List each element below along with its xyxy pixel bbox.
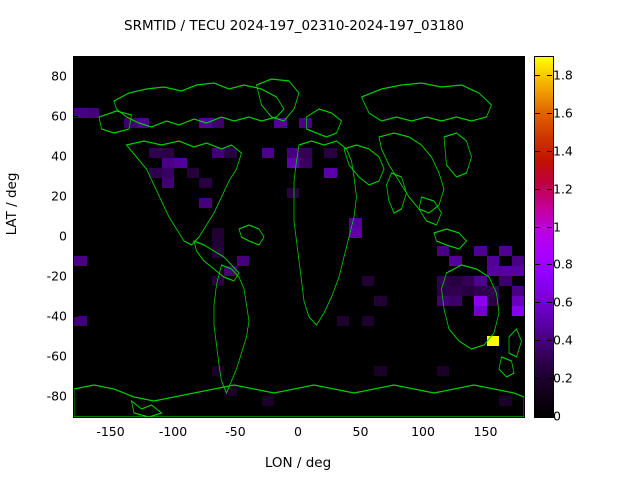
heatmap-cell	[287, 188, 300, 198]
heatmap-cell	[199, 178, 212, 188]
heatmap-cell	[212, 118, 225, 128]
plot-area[interactable]	[73, 56, 525, 418]
heatmap-cell	[512, 286, 525, 296]
heatmap-cell	[437, 276, 450, 286]
heatmap-cell	[487, 266, 500, 276]
heatmap-cell	[299, 148, 312, 158]
heatmap-cell	[274, 118, 287, 128]
heatmap-cell	[437, 296, 450, 306]
colorbar-tick-label: 0.4	[553, 333, 573, 348]
heatmap-cells	[74, 57, 524, 417]
colorbar-tick-label: 1.8	[553, 67, 573, 82]
heatmap-cell	[237, 256, 250, 266]
heatmap-cell	[137, 118, 150, 128]
heatmap-cell	[224, 266, 237, 276]
heatmap-cell	[349, 228, 362, 238]
figure-title: SRMTID / TECU 2024-197_02310-2024-197_03…	[0, 18, 588, 34]
colorbar-tick-label: 1.2	[553, 181, 573, 196]
heatmap-cell	[362, 276, 375, 286]
y-axis-label: LAT / deg	[4, 156, 20, 252]
heatmap-cell	[287, 158, 300, 168]
heatmap-cell	[149, 148, 162, 158]
x-tick-label: 100	[411, 424, 435, 439]
heatmap-cell	[74, 316, 87, 326]
colorbar-tick-label: 0.2	[553, 371, 573, 386]
x-tick-label: 50	[353, 424, 369, 439]
heatmap-cell	[299, 158, 312, 168]
heatmap-cell	[374, 366, 387, 376]
x-tick-label: 150	[474, 424, 498, 439]
colorbar-tick-mark	[547, 302, 552, 303]
y-tick-mark	[73, 316, 78, 317]
heatmap-cell	[212, 248, 225, 258]
colorbar-tick-mark	[547, 113, 552, 114]
heatmap-cell	[462, 276, 475, 286]
heatmap-cell	[124, 118, 137, 128]
heatmap-cell	[337, 316, 350, 326]
heatmap-cell	[262, 396, 275, 406]
colorbar-tick-label: 0.6	[553, 295, 573, 310]
colorbar-tick-label: 1	[553, 219, 561, 234]
colorbar-tick-mark	[547, 264, 552, 265]
y-tick-label: 40	[25, 149, 67, 164]
heatmap-cell	[499, 266, 512, 276]
y-tick-mark	[73, 76, 78, 77]
colorbar-tick-mark	[535, 189, 540, 190]
y-tick-label: -60	[25, 349, 67, 364]
colorbar-tick-mark	[535, 416, 540, 417]
heatmap-cell	[74, 256, 87, 266]
tec-map-figure: SRMTID / TECU 2024-197_02310-2024-197_03…	[0, 0, 640, 480]
heatmap-cell	[212, 238, 225, 248]
colorbar-tick-mark	[535, 302, 540, 303]
heatmap-cell	[324, 148, 337, 158]
colorbar-tick-label: 1.4	[553, 143, 573, 158]
x-tick-mark	[486, 411, 487, 416]
y-tick-label: -80	[25, 389, 67, 404]
y-tick-mark	[73, 396, 78, 397]
heatmap-cell	[212, 228, 225, 238]
y-tick-label: 80	[25, 69, 67, 84]
heatmap-cell	[512, 256, 525, 266]
heatmap-cell	[474, 286, 487, 296]
heatmap-cell	[349, 218, 362, 228]
heatmap-cell	[512, 266, 525, 276]
heatmap-cell	[324, 168, 337, 178]
colorbar-tick-label: 0.8	[553, 257, 573, 272]
y-tick-label: -40	[25, 309, 67, 324]
heatmap-cell	[299, 118, 312, 128]
y-tick-mark	[73, 156, 78, 157]
heatmap-cell	[212, 276, 225, 286]
x-tick-label: -150	[96, 424, 124, 439]
heatmap-cell	[162, 148, 175, 158]
x-tick-label: -100	[159, 424, 187, 439]
heatmap-cell	[449, 296, 462, 306]
heatmap-cell	[474, 306, 487, 316]
colorbar-tick-mark	[535, 75, 540, 76]
heatmap-cell	[262, 148, 275, 158]
heatmap-cell	[449, 276, 462, 286]
colorbar-tick-label: 1.6	[553, 105, 573, 120]
colorbar-tick-mark	[535, 151, 540, 152]
heatmap-cell	[449, 256, 462, 266]
heatmap-cell	[474, 296, 487, 306]
heatmap-cell	[512, 306, 525, 316]
heatmap-cell	[162, 168, 175, 178]
heatmap-cell	[224, 148, 237, 158]
colorbar-tick-mark	[547, 75, 552, 76]
x-tick-mark	[361, 411, 362, 416]
x-tick-label: -50	[225, 424, 245, 439]
heatmap-cell	[462, 286, 475, 296]
colorbar-tick-mark	[535, 227, 540, 228]
y-tick-label: 0	[25, 229, 67, 244]
x-tick-label: 0	[294, 424, 302, 439]
heatmap-cell	[287, 148, 300, 158]
colorbar-tick-mark	[535, 378, 540, 379]
heatmap-cell	[374, 296, 387, 306]
heatmap-cell	[499, 396, 512, 406]
y-tick-label: -20	[25, 269, 67, 284]
heatmap-cell	[212, 148, 225, 158]
x-tick-mark	[111, 411, 112, 416]
x-tick-mark	[236, 411, 237, 416]
heatmap-cell	[362, 316, 375, 326]
colorbar-tick-mark	[547, 227, 552, 228]
y-tick-label: 60	[25, 109, 67, 124]
heatmap-cell	[487, 336, 500, 346]
colorbar-tick-mark	[547, 189, 552, 190]
heatmap-cell	[512, 296, 525, 306]
heatmap-cell	[162, 158, 175, 168]
colorbar-tick-mark	[547, 340, 552, 341]
x-tick-mark	[173, 411, 174, 416]
x-tick-mark	[423, 411, 424, 416]
colorbar-tick-mark	[547, 151, 552, 152]
heatmap-cell	[499, 246, 512, 256]
heatmap-cell	[499, 276, 512, 286]
heatmap-cell	[437, 286, 450, 296]
heatmap-cell	[174, 158, 187, 168]
heatmap-cell	[224, 386, 237, 396]
heatmap-cell	[199, 198, 212, 208]
heatmap-cell	[449, 286, 462, 296]
y-tick-mark	[73, 116, 78, 117]
heatmap-cell	[487, 256, 500, 266]
heatmap-cell	[487, 286, 500, 296]
heatmap-cell	[162, 178, 175, 188]
y-tick-mark	[73, 356, 78, 357]
heatmap-cell	[199, 118, 212, 128]
y-tick-mark	[73, 276, 78, 277]
colorbar-tick-mark	[535, 113, 540, 114]
colorbar-tick-mark	[535, 264, 540, 265]
colorbar-tick-mark	[547, 416, 552, 417]
colorbar	[534, 56, 554, 418]
heatmap-cell	[474, 246, 487, 256]
x-tick-mark	[298, 411, 299, 416]
heatmap-cell	[474, 276, 487, 286]
colorbar-tick-mark	[547, 378, 552, 379]
heatmap-cell	[487, 296, 500, 306]
colorbar-tick-label: 0	[553, 409, 561, 424]
y-tick-mark	[73, 196, 78, 197]
heatmap-cell	[149, 168, 162, 178]
heatmap-cell	[212, 366, 225, 376]
heatmap-cell	[187, 168, 200, 178]
x-axis-label: LON / deg	[0, 455, 596, 471]
y-tick-label: 20	[25, 189, 67, 204]
heatmap-cell	[437, 366, 450, 376]
colorbar-tick-mark	[535, 340, 540, 341]
heatmap-cell	[437, 246, 450, 256]
y-tick-mark	[73, 236, 78, 237]
heatmap-cell	[87, 108, 100, 118]
